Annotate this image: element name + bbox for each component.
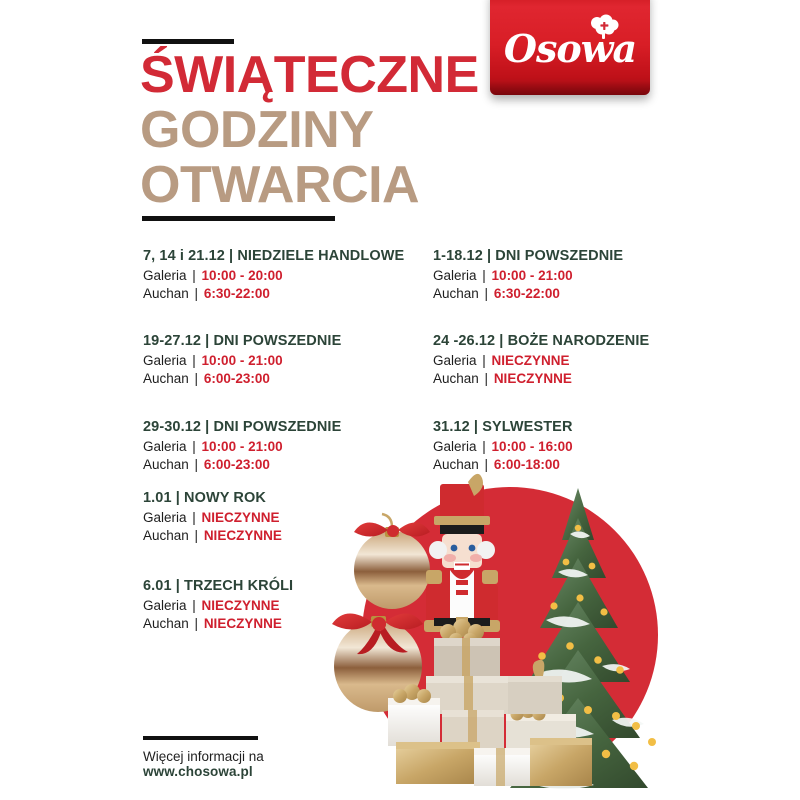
schedule-row-separator: | <box>189 457 204 472</box>
footer-info-text: Więcej informacji na <box>143 748 264 765</box>
schedule-row-value: 10:00 - 20:00 <box>202 268 283 283</box>
poster-canvas: Osowa ŚWIĄTECZNE GODZINY OTWARCIA 7, 14 … <box>0 0 800 800</box>
schedule-row-label: Galeria <box>143 439 187 454</box>
schedule-row-label: Galeria <box>143 598 187 613</box>
schedule-row-value: 10:00 - 21:00 <box>202 353 283 368</box>
schedule-row: Galeria | NIECZYNNE <box>143 509 282 527</box>
schedule-row-separator: | <box>189 286 204 301</box>
schedule-row-value: NIECZYNNE <box>204 528 282 543</box>
logo-wordmark: Osowa <box>490 26 650 71</box>
christmas-scene-svg <box>330 470 680 800</box>
schedule-row-separator: | <box>187 353 202 368</box>
schedule-entry: 29-30.12 | DNI POWSZEDNIEGaleria | 10:00… <box>143 419 341 473</box>
schedule-row: Galeria | 10:00 - 21:00 <box>433 267 623 285</box>
footer-rule <box>143 736 258 740</box>
schedule-row-separator: | <box>187 510 202 525</box>
schedule-row: Galeria | 10:00 - 21:00 <box>143 352 341 370</box>
schedule-row-label: Auchan <box>433 371 479 386</box>
schedule-row: Galeria | 10:00 - 16:00 <box>433 438 573 456</box>
schedule-row-value: NIECZYNNE <box>202 598 280 613</box>
schedule-row-value: NIECZYNNE <box>492 353 570 368</box>
schedule-row: Galeria | NIECZYNNE <box>433 352 649 370</box>
schedule-row-value: 6:00-23:00 <box>204 371 270 386</box>
schedule-entry: 6.01 | TRZECH KRÓLIGaleria | NIECZYNNEAu… <box>143 578 293 632</box>
schedule-entry: 24 -26.12 | BOŻE NARODZENIEGaleria | NIE… <box>433 333 649 387</box>
schedule-row-value: 6:30-22:00 <box>204 286 270 301</box>
schedule-row-label: Galeria <box>143 353 187 368</box>
schedule-row-separator: | <box>189 371 204 386</box>
schedule-entry: 7, 14 i 21.12 | NIEDZIELE HANDLOWEGaleri… <box>143 248 404 302</box>
footer-website-link[interactable]: www.chosowa.pl <box>143 764 253 779</box>
schedule-entry-heading: 1.01 | NOWY ROK <box>143 490 282 506</box>
schedule-row: Auchan | 6:30-22:00 <box>433 285 623 303</box>
schedule-row-separator: | <box>189 616 204 631</box>
schedule-entry-heading: 1-18.12 | DNI POWSZEDNIE <box>433 248 623 264</box>
schedule-row-value: NIECZYNNE <box>494 371 572 386</box>
title-rule-bottom <box>142 216 335 221</box>
schedule-entry: 1.01 | NOWY ROKGaleria | NIECZYNNEAuchan… <box>143 490 282 544</box>
title-line-3: OTWARCIA <box>140 158 560 213</box>
schedule-row-value: 6:30-22:00 <box>494 286 560 301</box>
christmas-artwork <box>330 470 680 800</box>
schedule-entry-heading: 24 -26.12 | BOŻE NARODZENIE <box>433 333 649 349</box>
schedule-row-label: Galeria <box>143 268 187 283</box>
schedule-row-label: Galeria <box>433 268 477 283</box>
schedule-row-value: NIECZYNNE <box>202 510 280 525</box>
schedule-row: Auchan | 6:00-23:00 <box>143 370 341 388</box>
tree-owl-icon <box>586 14 620 45</box>
schedule-entry-heading: 31.12 | SYLWESTER <box>433 419 573 435</box>
schedule-entry: 19-27.12 | DNI POWSZEDNIEGaleria | 10:00… <box>143 333 341 387</box>
schedule-row: Auchan | NIECZYNNE <box>433 370 649 388</box>
schedule-row-separator: | <box>189 528 204 543</box>
schedule-row: Auchan | NIECZYNNE <box>143 615 293 633</box>
schedule-row-label: Auchan <box>143 371 189 386</box>
schedule-entry-heading: 29-30.12 | DNI POWSZEDNIE <box>143 419 341 435</box>
schedule-row-label: Galeria <box>143 510 187 525</box>
schedule-row: Auchan | 6:00-23:00 <box>143 456 341 474</box>
schedule-entry-heading: 19-27.12 | DNI POWSZEDNIE <box>143 333 341 349</box>
schedule-row-value: 10:00 - 16:00 <box>492 439 573 454</box>
schedule-row-label: Auchan <box>143 616 189 631</box>
schedule-row-label: Auchan <box>143 528 189 543</box>
schedule-row-separator: | <box>477 268 492 283</box>
schedule-row-label: Galeria <box>433 439 477 454</box>
schedule-row-label: Auchan <box>143 286 189 301</box>
schedule-row: Galeria | NIECZYNNE <box>143 597 293 615</box>
schedule-row-separator: | <box>187 268 202 283</box>
page-title: ŚWIĄTECZNE GODZINY OTWARCIA <box>140 48 560 213</box>
schedule-row-separator: | <box>479 286 494 301</box>
schedule-row-separator: | <box>187 439 202 454</box>
title-line-2: GODZINY <box>140 103 560 158</box>
schedule-entry-heading: 6.01 | TRZECH KRÓLI <box>143 578 293 594</box>
schedule-row: Galeria | 10:00 - 21:00 <box>143 438 341 456</box>
schedule-row-value: 10:00 - 21:00 <box>202 439 283 454</box>
schedule-row-separator: | <box>187 598 202 613</box>
schedule-row-separator: | <box>477 439 492 454</box>
schedule-row: Auchan | 6:30-22:00 <box>143 285 404 303</box>
schedule-row-label: Auchan <box>143 457 189 472</box>
schedule-row: Galeria | 10:00 - 20:00 <box>143 267 404 285</box>
schedule-row-separator: | <box>479 371 494 386</box>
schedule-row-separator: | <box>477 353 492 368</box>
schedule-row-label: Galeria <box>433 353 477 368</box>
gold-bauble-upper <box>354 514 430 609</box>
title-rule-top <box>142 39 234 44</box>
schedule-row-value: 10:00 - 21:00 <box>492 268 573 283</box>
schedule-entry: 31.12 | SYLWESTERGaleria | 10:00 - 16:00… <box>433 419 573 473</box>
schedule-row: Auchan | NIECZYNNE <box>143 527 282 545</box>
schedule-row-value: NIECZYNNE <box>204 616 282 631</box>
schedule-entry: 1-18.12 | DNI POWSZEDNIEGaleria | 10:00 … <box>433 248 623 302</box>
schedule-row-value: 6:00-23:00 <box>204 457 270 472</box>
schedule-row-label: Auchan <box>433 286 479 301</box>
schedule-entry-heading: 7, 14 i 21.12 | NIEDZIELE HANDLOWE <box>143 248 404 264</box>
